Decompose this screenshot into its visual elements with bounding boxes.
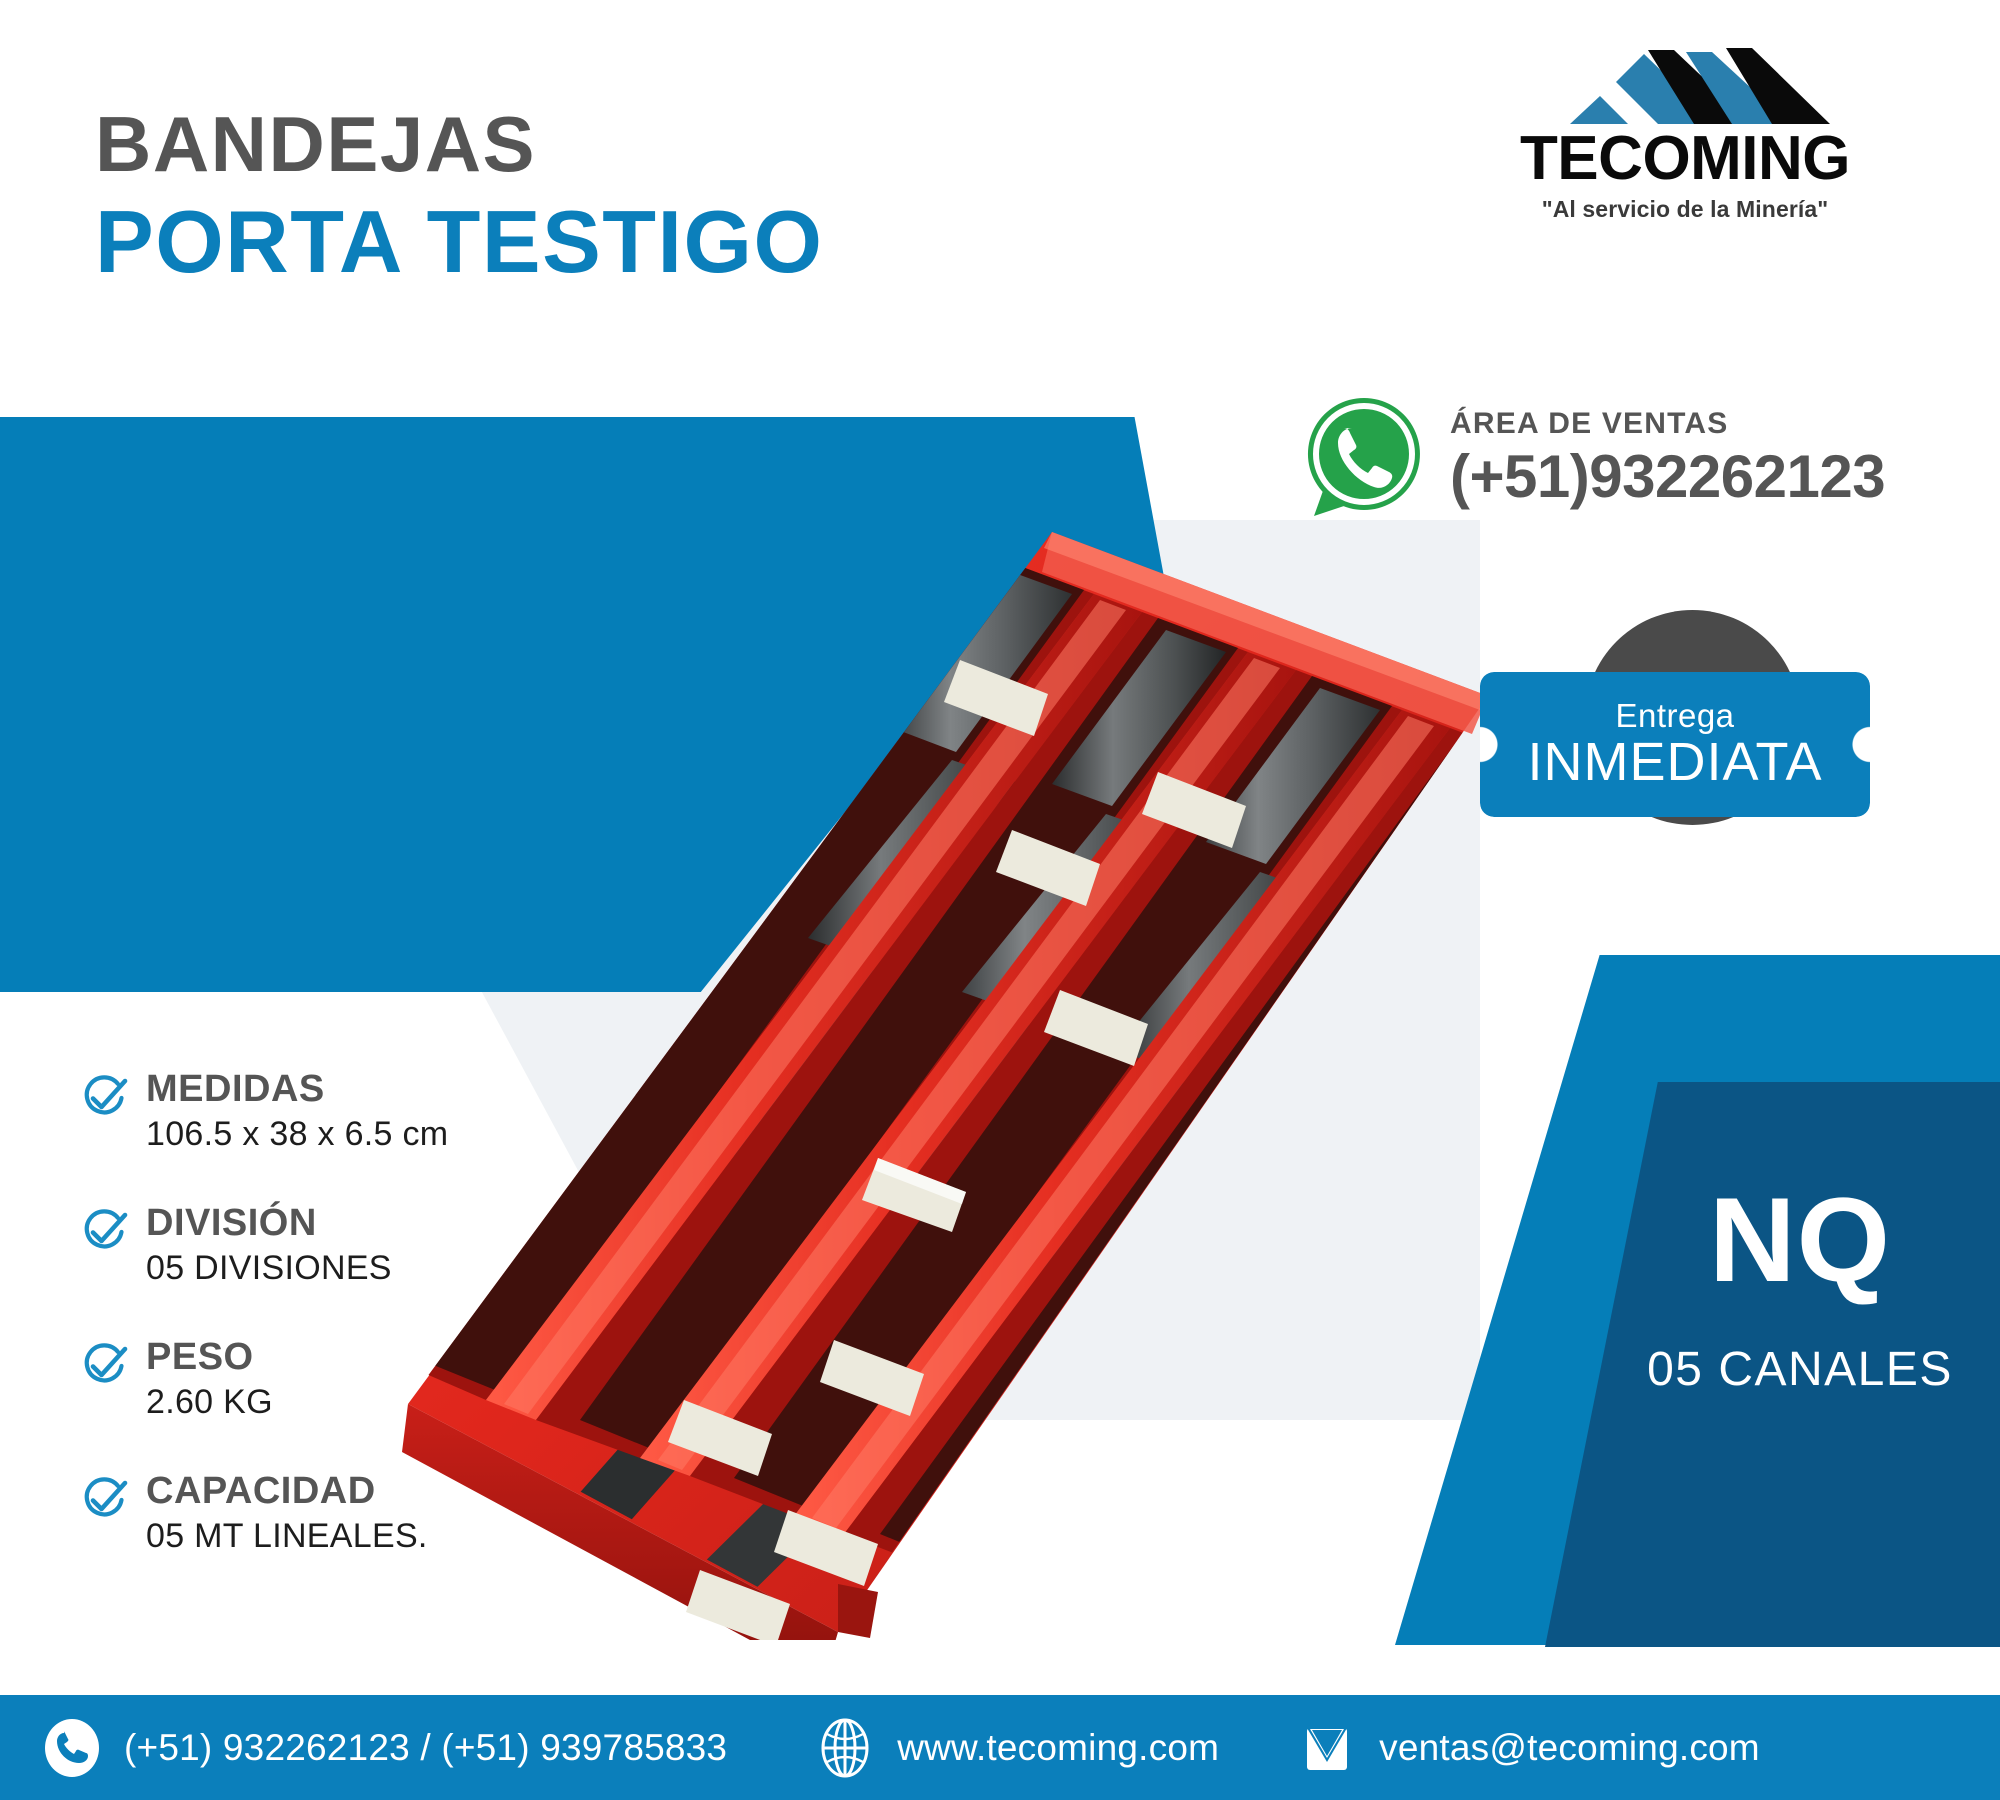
title-line-2: PORTA TESTIGO <box>95 195 823 288</box>
check-circle-icon <box>78 1340 130 1392</box>
spec-value: 106.5 x 38 x 6.5 cm <box>146 1115 448 1154</box>
spec-text-division: DIVISIÓN 05 DIVISIONES <box>146 1204 392 1288</box>
badge-main-label: INMEDIATA <box>1527 734 1822 791</box>
spec-value: 2.60 KG <box>146 1383 273 1422</box>
spec-label: CAPACIDAD <box>146 1472 428 1512</box>
logo-tagline: "Al servicio de la Minería" <box>1455 196 1915 223</box>
phone-icon[interactable] <box>42 1718 102 1778</box>
spec-label: MEDIDAS <box>146 1070 448 1110</box>
footer-phones[interactable]: (+51) 932262123 / (+51) 939785833 <box>124 1727 727 1769</box>
page-title: BANDEJAS PORTA TESTIGO <box>95 105 823 288</box>
spec-text-medidas: MEDIDAS 106.5 x 38 x 6.5 cm <box>146 1070 448 1154</box>
logo-wordmark: TECOMING <box>1455 128 1915 190</box>
check-circle-icon <box>78 1072 130 1124</box>
footer-phone-group[interactable]: (+51) 932262123 / (+51) 939785833 <box>42 1718 727 1778</box>
spec-text-capacidad: CAPACIDAD 05 MT LINEALES. <box>146 1472 428 1556</box>
product-code-panel: NQ 05 CANALES <box>1600 1180 2000 1394</box>
product-code: NQ <box>1600 1180 2000 1300</box>
envelope-icon[interactable] <box>1297 1718 1357 1778</box>
spec-item-capacidad: CAPACIDAD 05 MT LINEALES. <box>78 1472 598 1556</box>
footer-email[interactable]: ventas@tecoming.com <box>1379 1727 1760 1769</box>
title-line-1: BANDEJAS <box>95 105 823 185</box>
globe-icon[interactable] <box>815 1718 875 1778</box>
footer-email-group[interactable]: ventas@tecoming.com <box>1297 1718 1760 1778</box>
footer-website[interactable]: www.tecoming.com <box>897 1727 1219 1769</box>
contact-footer-bar: (+51) 932262123 / (+51) 939785833 www.te… <box>0 1695 2000 1800</box>
whatsapp-icon[interactable] <box>1300 392 1428 520</box>
spec-item-division: DIVISIÓN 05 DIVISIONES <box>78 1204 598 1288</box>
spec-item-medidas: MEDIDAS 106.5 x 38 x 6.5 cm <box>78 1070 598 1154</box>
badge-ticket-shape: Entrega INMEDIATA <box>1480 672 1870 817</box>
sales-contact-text: ÁREA DE VENTAS (+51)932262123 <box>1450 405 1885 508</box>
sales-phone-number[interactable]: (+51)932262123 <box>1450 445 1885 508</box>
product-channels: 05 CANALES <box>1600 1346 2000 1394</box>
spec-value: 05 DIVISIONES <box>146 1249 392 1288</box>
spec-item-peso: PESO 2.60 KG <box>78 1338 598 1422</box>
spec-label: DIVISIÓN <box>146 1204 392 1244</box>
delivery-badge: Entrega INMEDIATA <box>1480 610 1900 850</box>
badge-top-label: Entrega <box>1615 699 1734 732</box>
sales-area-label: ÁREA DE VENTAS <box>1450 409 1885 439</box>
footer-website-group[interactable]: www.tecoming.com <box>815 1718 1219 1778</box>
spec-text-peso: PESO 2.60 KG <box>146 1338 273 1422</box>
sales-contact-block[interactable]: ÁREA DE VENTAS (+51)932262123 <box>1300 392 1885 520</box>
spec-value: 05 MT LINEALES. <box>146 1517 428 1556</box>
brand-logo: TECOMING "Al servicio de la Minería" <box>1455 48 1915 223</box>
poster-canvas: BANDEJAS PORTA TESTIGO TECOMING "Al serv… <box>0 0 2000 1800</box>
spec-label: PESO <box>146 1338 273 1378</box>
check-circle-icon <box>78 1206 130 1258</box>
check-circle-icon <box>78 1474 130 1526</box>
specifications-list: MEDIDAS 106.5 x 38 x 6.5 cm DIVISIÓN 05 … <box>78 1070 598 1556</box>
mountain-peaks-icon <box>1540 48 1830 126</box>
